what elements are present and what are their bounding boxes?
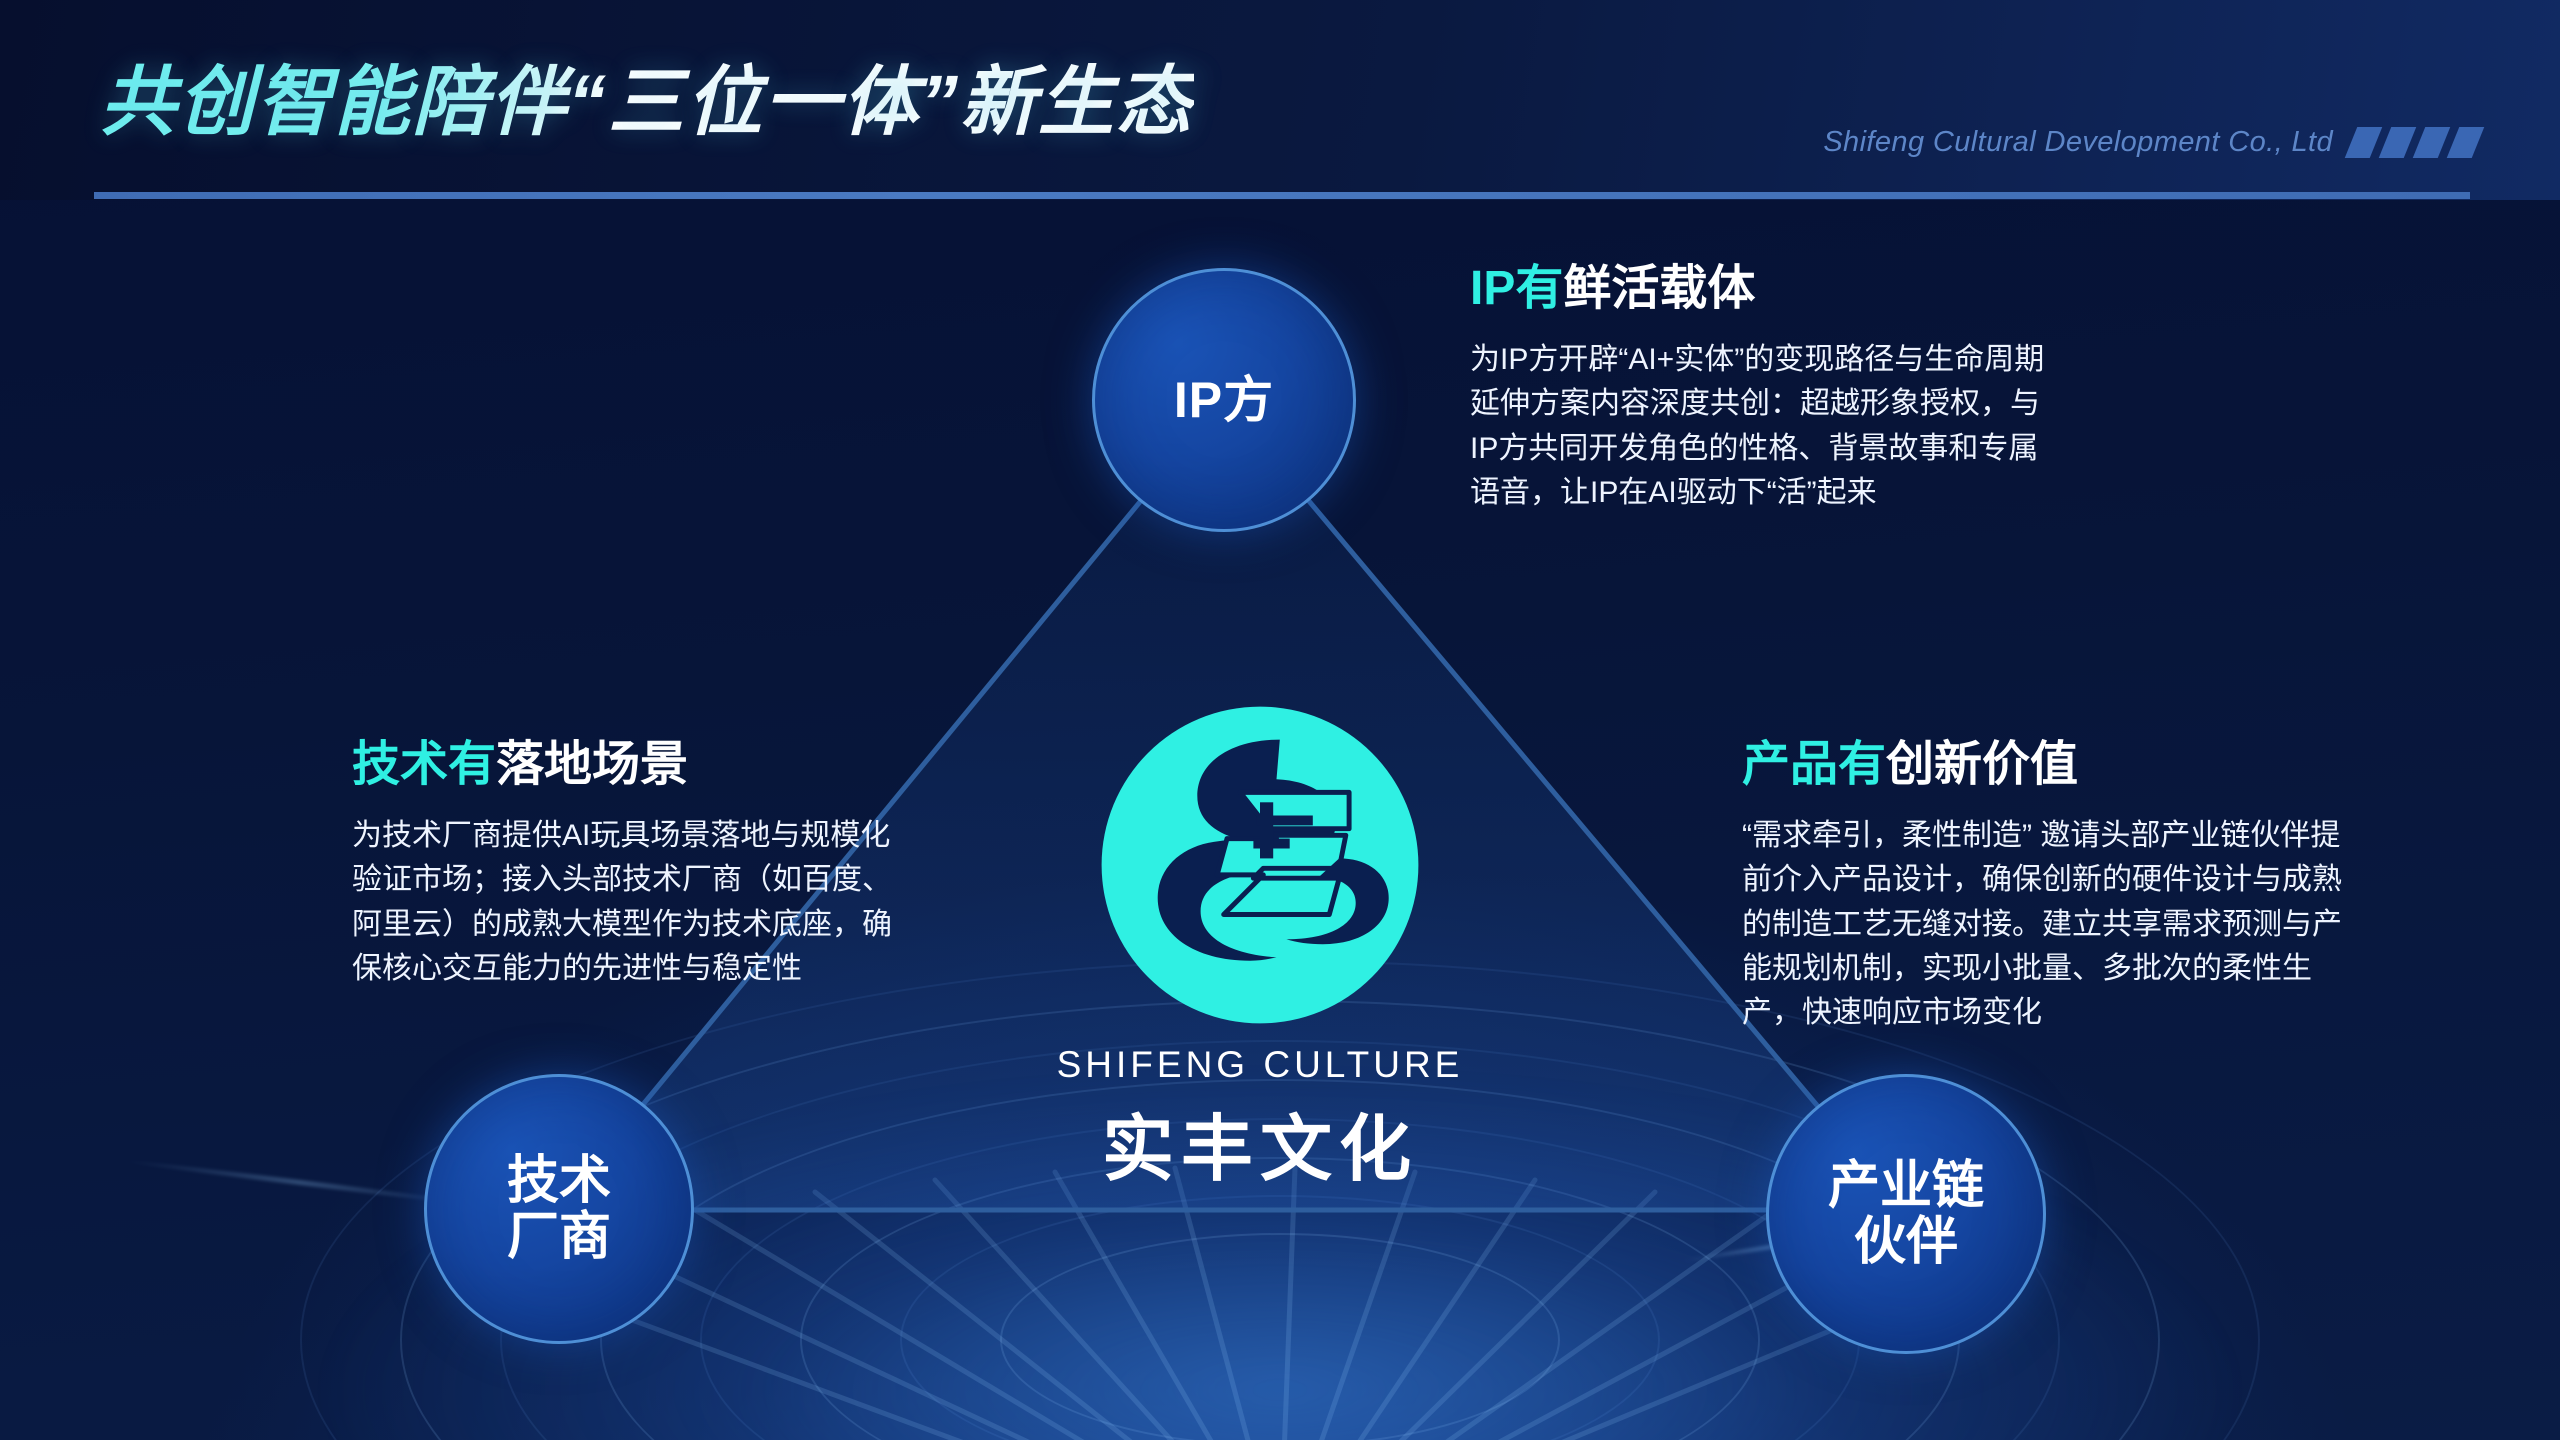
block-tech-heading: 技术有落地场景: [352, 738, 912, 792]
node-chain-partner[interactable]: 产业链 伙伴: [1766, 1074, 2046, 1354]
node-chain-label-line1: 产业链: [1828, 1158, 1984, 1214]
block-ip-heading-rest: 鲜活载体: [1563, 262, 1755, 315]
company-name: Shifeng Cultural Development Co., Ltd: [1823, 126, 2333, 159]
block-tech-heading-highlight: 技术有: [352, 738, 496, 791]
slide-canvas: 共创智能陪伴“三位一体”新生态 Shifeng Cultural Develop…: [0, 0, 2560, 1440]
block-product-value: 产品有创新价值 “需求牵引，柔性制造” 邀请头部产业链伙伴提前介入产品设计，确保…: [1742, 738, 2362, 1036]
node-ip-party[interactable]: IP方: [1092, 268, 1356, 532]
center-logo: SHIFENG CULTURE 实丰文化: [1050, 700, 1470, 1195]
node-tech-vendor[interactable]: 技术 厂商: [424, 1074, 694, 1344]
page-title: 共创智能陪伴“三位一体”新生态: [100, 40, 1194, 150]
block-ip-heading: IP有鲜活载体: [1470, 262, 2070, 316]
node-ip-label: IP方: [1174, 373, 1274, 427]
node-chain-label-line2: 伙伴: [1828, 1214, 1984, 1270]
block-product-heading-highlight: 产品有: [1742, 738, 1886, 791]
node-tech-label-line2: 厂商: [507, 1209, 611, 1265]
block-product-heading: 产品有创新价值: [1742, 738, 2362, 792]
block-tech-scenario: 技术有落地场景 为技术厂商提供AI玩具场景落地与规模化验证市场；接入头部技术厂商…: [352, 738, 912, 991]
slide-header: 共创智能陪伴“三位一体”新生态 Shifeng Cultural Develop…: [0, 0, 2560, 200]
block-product-heading-rest: 创新价值: [1886, 738, 2078, 791]
brand-lockup: Shifeng Cultural Development Co., Ltd: [1823, 126, 2478, 159]
node-tech-label-line1: 技术: [507, 1153, 611, 1209]
shifeng-logo-icon: [1095, 700, 1425, 1030]
block-ip-body: 为IP方开辟“AI+实体”的变现路径与生命周期延伸方案内容深度共创：超越形象授权…: [1470, 338, 2045, 516]
logo-english-name: SHIFENG CULTURE: [1057, 1044, 1464, 1086]
slash-decoration-icon: [2351, 127, 2478, 158]
block-tech-body: 为技术厂商提供AI玩具场景落地与规模化验证市场；接入头部技术厂商（如百度、阿里云…: [352, 814, 897, 992]
logo-chinese-name: 实丰文化: [1102, 1090, 1418, 1195]
block-product-body: “需求牵引，柔性制造” 邀请头部产业链伙伴提前介入产品设计，确保创新的硬件设计与…: [1742, 814, 2342, 1036]
block-ip-heading-highlight: IP有: [1470, 262, 1563, 315]
block-tech-heading-rest: 落地场景: [496, 738, 688, 791]
header-divider: [94, 192, 2470, 199]
block-ip-carrier: IP有鲜活载体 为IP方开辟“AI+实体”的变现路径与生命周期延伸方案内容深度共…: [1470, 262, 2070, 515]
